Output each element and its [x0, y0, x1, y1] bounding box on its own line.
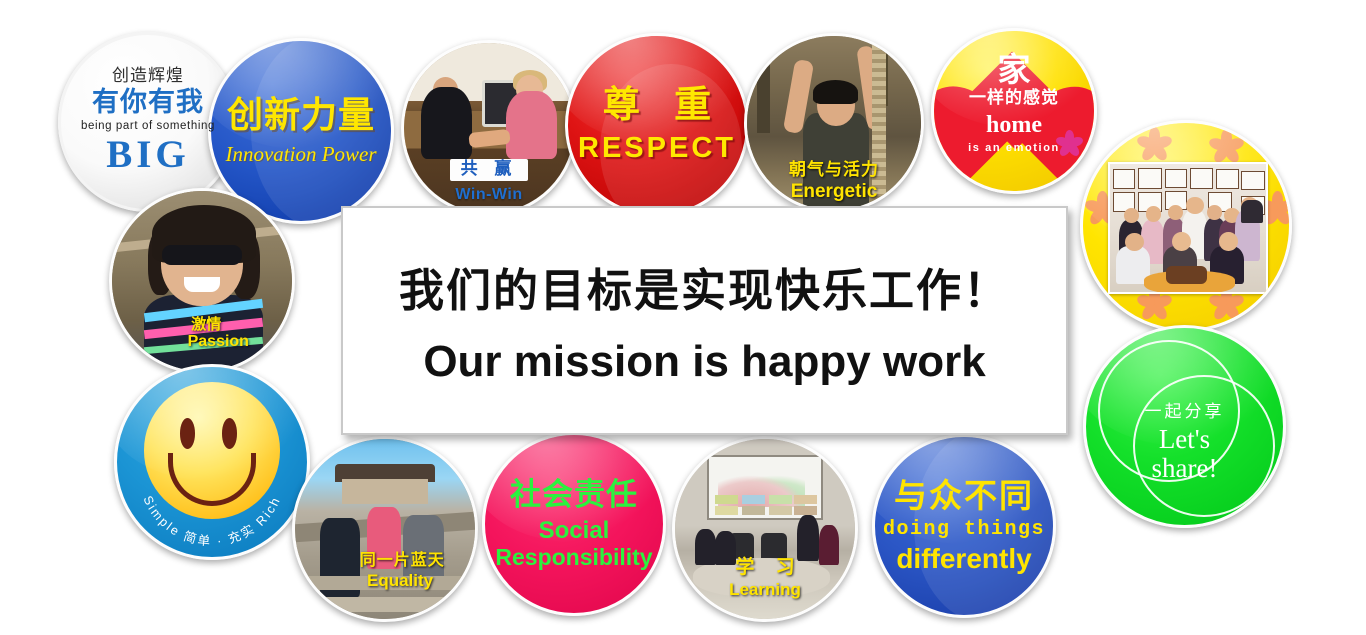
badge-passion[interactable]: 激情 Passion [109, 188, 295, 374]
mission-line-cn: 我们的目标是实现快乐工作！ [399, 254, 1010, 319]
values-collage: 创造辉煌 有你有我 being part of something BIG 创新… [0, 0, 1366, 635]
badge-big-cn-small: 创造辉煌 [112, 67, 184, 85]
svg-text:Simple 简单 · 充实 Rich: Simple 简单 · 充实 Rich [140, 494, 283, 549]
badge-winwin-cn: 共 赢 [404, 160, 574, 178]
badge-home-en-small: is an emotion [934, 143, 1094, 155]
badge-big-en-small: being part of something [81, 120, 215, 132]
badge-differently[interactable]: 与众不同 doing things differently [872, 434, 1056, 618]
badge-simple-rich[interactable]: Simple 简单 · 充实 Rich [114, 364, 310, 560]
badge-share-cn: 一起分享 [1086, 403, 1283, 421]
badge-share-en-line1: Let's [1086, 425, 1283, 454]
badge-big[interactable]: 创造辉煌 有你有我 being part of something BIG [58, 32, 238, 212]
badge-family-photo[interactable] [1080, 120, 1292, 332]
badge-differently-en-line1: doing things [883, 519, 1045, 541]
badge-innovation-cn: 创新力量 [227, 96, 375, 135]
flower-icon [1209, 129, 1243, 163]
great-wall-photo [295, 439, 475, 619]
badge-learning-cn: 学 习 [675, 558, 855, 579]
badge-innovation-en: Innovation Power [225, 143, 376, 166]
badge-share-en-line2: share! [1086, 454, 1283, 483]
badge-big-en-main: BIG [106, 134, 190, 176]
badge-social-cn: 社会责任 [510, 478, 638, 511]
badge-social-responsibility[interactable]: 社会责任 Social Responsibility [482, 432, 666, 616]
badge-learning-en: Learning [675, 581, 855, 599]
curved-caption: Simple 简单 · 充实 Rich [117, 367, 307, 557]
badge-differently-en-line2: differently [896, 544, 1031, 574]
team-group-photo [1108, 162, 1269, 294]
badge-differently-cn: 与众不同 [894, 478, 1034, 514]
badge-win-win[interactable]: 共 赢 Win-Win [401, 40, 577, 216]
badge-equality-en: Equality [367, 572, 433, 590]
badge-respect-cn: 尊 重 [591, 85, 723, 125]
badge-social-en-line1: Social [539, 518, 610, 544]
badge-passion-en: Passion [188, 333, 249, 350]
badge-home-cn-main: 一样的感觉 [934, 89, 1094, 107]
badge-big-cn-main: 有你有我 [92, 88, 204, 117]
badge-lets-share[interactable]: 一起分享 Let's share! [1083, 325, 1286, 528]
badge-home-en-main: home [934, 113, 1094, 139]
badge-passion-cn: 激情 [191, 317, 221, 333]
flower-icon [1137, 127, 1171, 161]
badge-winwin-en: Win-Win [404, 186, 574, 203]
mission-banner: 我们的目标是实现快乐工作！ Our mission is happy work [341, 206, 1068, 435]
badge-respect[interactable]: 尊 重 RESPECT [565, 33, 749, 217]
badge-respect-en: RESPECT [578, 133, 736, 164]
badge-energetic-en: Energetic [747, 182, 921, 203]
badge-home-cn-big: 家 [934, 52, 1094, 88]
badge-social-en-line2: Responsibility [495, 545, 652, 570]
badge-energetic-cn: 朝气与活力 [747, 161, 921, 179]
badge-equality-cn: 同一片蓝天 [360, 552, 445, 569]
badge-learning[interactable]: 学 习 Learning [672, 436, 858, 622]
badge-equality[interactable]: 同一片蓝天 Equality [292, 436, 478, 622]
mission-line-en: Our mission is happy work [423, 337, 985, 387]
badge-energetic[interactable]: 朝气与活力 Energetic [744, 33, 924, 213]
badge-home[interactable]: 家 一样的感觉 home is an emotion [931, 28, 1097, 194]
